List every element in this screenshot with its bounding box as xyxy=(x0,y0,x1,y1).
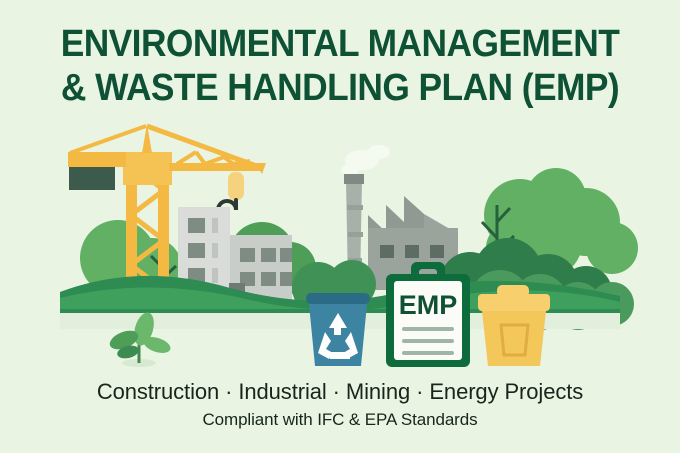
title-line-1: ENVIRONMENTAL MANAGEMENT xyxy=(24,22,656,66)
caption-compliance: Compliant with IFC & EPA Standards xyxy=(0,409,680,431)
recycle-bin-icon xyxy=(306,293,370,366)
clipboard-icon: EMP xyxy=(386,262,470,367)
poster-canvas: EMP ENVIRONMENTAL MANAGEMENT & WASTE HAN… xyxy=(0,0,680,453)
title-block: ENVIRONMENTAL MANAGEMENT & WASTE HANDLIN… xyxy=(0,22,680,110)
title-line-2: & WASTE HANDLING PLAN (EMP) xyxy=(24,66,656,110)
clipboard-label: EMP xyxy=(399,290,458,320)
caption-sectors: Construction · Industrial · Mining · Ene… xyxy=(0,378,680,406)
trash-bin-icon xyxy=(478,285,550,366)
caption-block: Construction · Industrial · Mining · Ene… xyxy=(0,378,680,431)
